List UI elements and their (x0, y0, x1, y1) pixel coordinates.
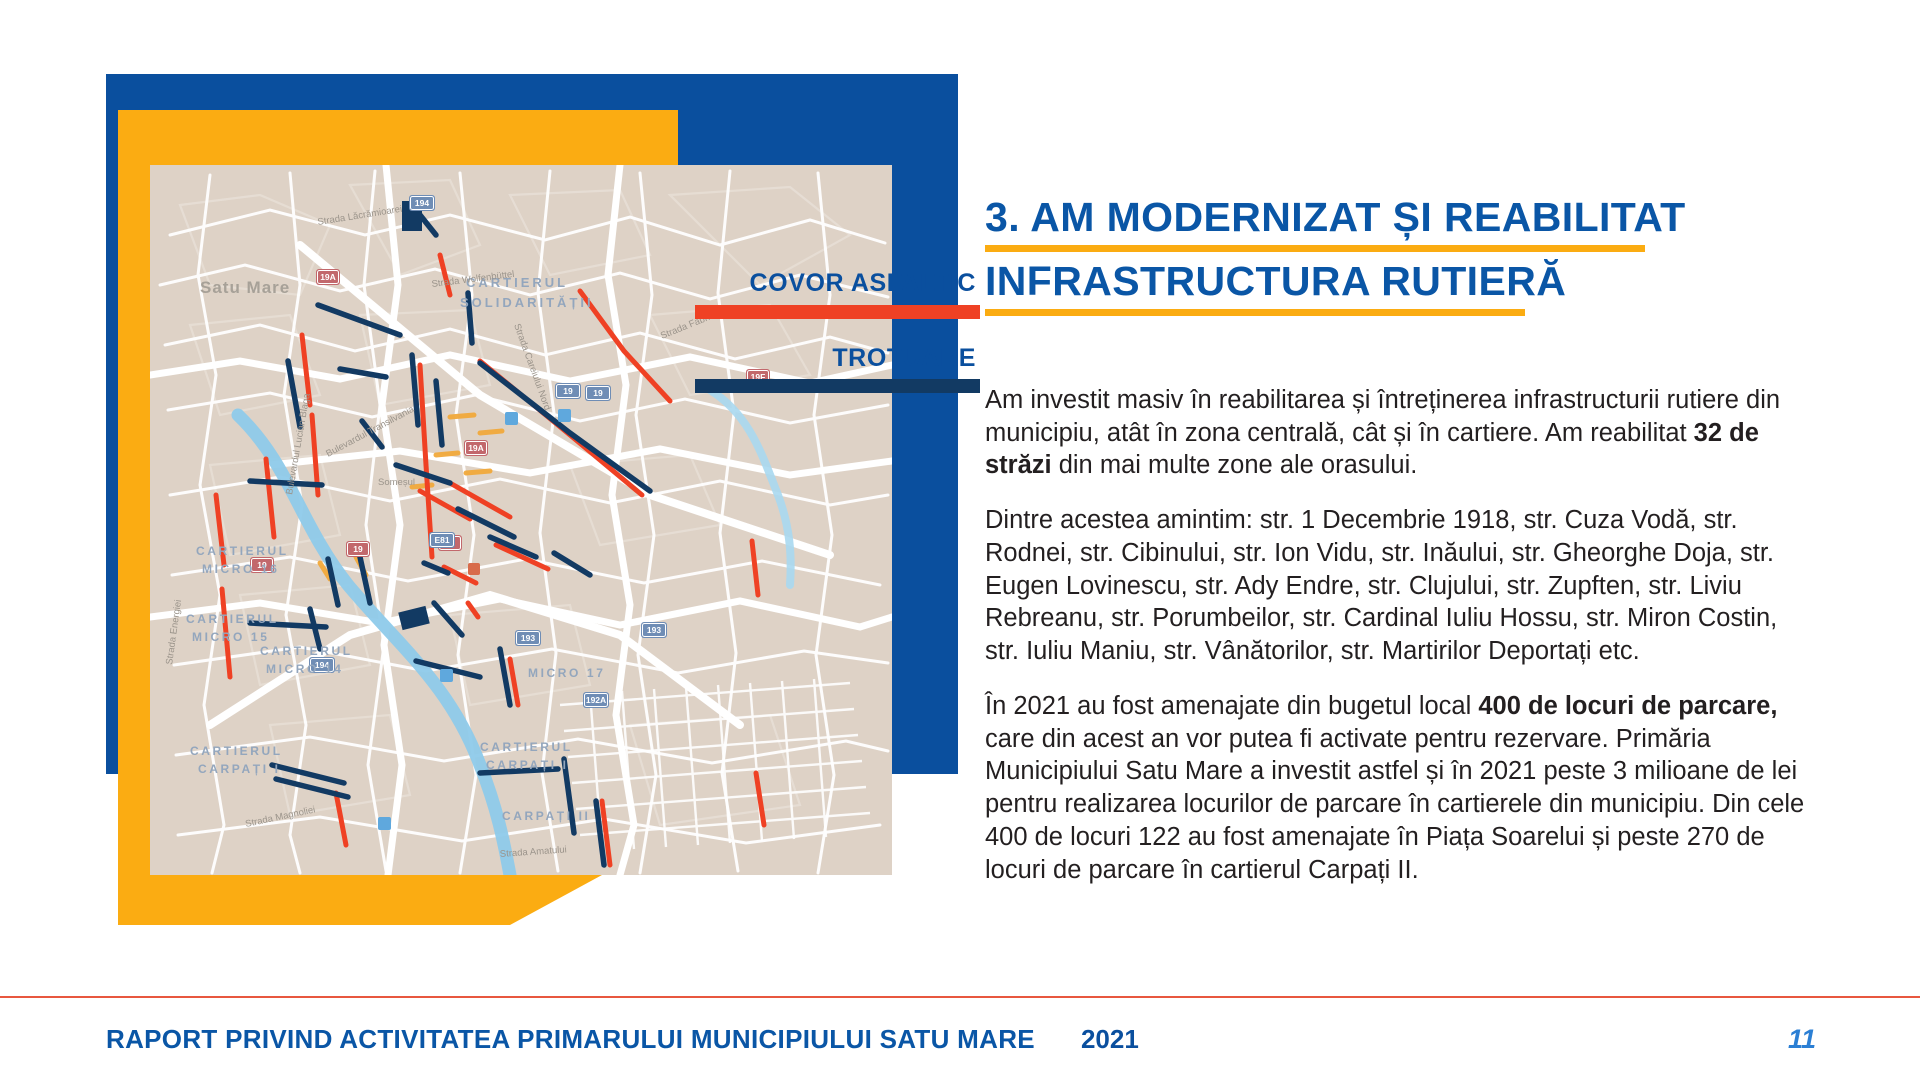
svg-text:CARPAȚI II: CARPAȚI II (502, 809, 590, 823)
paragraph-investment: Am investit masiv în reabilitarea și înt… (985, 384, 1815, 482)
legend-swatch-sidewalk (695, 379, 980, 393)
legend-item-asphalt: COVOR ASFALTIC (660, 270, 980, 319)
svg-text:19: 19 (593, 388, 603, 398)
footer-year: 2021 (1081, 1024, 1139, 1055)
title-underline-2 (985, 309, 1525, 316)
title-line-1: 3. AM MODERNIZAT ȘI REABILITAT (985, 195, 1815, 241)
paragraph-street-list: Dintre acestea amintim: str. 1 Decembrie… (985, 504, 1815, 668)
p1-pre: Am investit masiv în reabilitarea și înt… (985, 386, 1780, 447)
footer: RAPORT PRIVIND ACTIVITATEA PRIMARULUI MU… (0, 998, 1920, 1080)
p3-pre: În 2021 au fost amenajate din bugetul lo… (985, 692, 1478, 720)
p1-post: din mai multe zone ale orasului. (1052, 451, 1418, 479)
title-underline-1 (985, 245, 1645, 252)
title-line-2: INFRASTRUCTURA RUTIERĂ (985, 259, 1815, 305)
legend-swatch-asphalt (695, 305, 980, 319)
svg-text:19A: 19A (468, 443, 484, 453)
svg-text:MICRO 14: MICRO 14 (266, 662, 343, 676)
body-copy: Am investit masiv în reabilitarea și înt… (985, 384, 1815, 887)
svg-text:193: 193 (521, 633, 535, 643)
paragraph-parking: În 2021 au fost amenajate din bugetul lo… (985, 690, 1815, 887)
page-title: 3. AM MODERNIZAT ȘI REABILITAT INFRASTRU… (985, 195, 1815, 316)
legend-label-asphalt: COVOR ASFALTIC (660, 270, 980, 298)
svg-text:CARTIERUL: CARTIERUL (196, 544, 289, 558)
svg-text:19A: 19A (320, 272, 336, 282)
map-composition: 194 19A 19F 19 19 19A 19 19 19 E81 194 1… (0, 0, 980, 960)
svg-text:194: 194 (415, 198, 429, 208)
svg-text:19: 19 (353, 544, 363, 554)
svg-text:19: 19 (563, 386, 573, 396)
svg-text:193: 193 (647, 625, 661, 635)
svg-text:CARTIERUL: CARTIERUL (260, 644, 353, 658)
legend-item-sidewalk: TROTUARE (660, 345, 980, 394)
svg-text:MICRO 15: MICRO 15 (192, 630, 269, 644)
svg-text:CARTIERUL: CARTIERUL (186, 612, 279, 626)
legend-label-sidewalk: TROTUARE (660, 345, 980, 373)
p3-highlight: 400 de locuri de parcare, (1478, 692, 1777, 720)
content-column: 3. AM MODERNIZAT ȘI REABILITAT INFRASTRU… (985, 195, 1815, 887)
svg-text:CARPAȚI I: CARPAȚI I (198, 762, 281, 776)
page-number: 11 (1788, 1024, 1816, 1055)
map-legend: COVOR ASFALTIC TROTUARE (660, 270, 980, 419)
svg-text:MICRO 17: MICRO 17 (528, 666, 605, 680)
svg-text:SOLIDARITĂȚII: SOLIDARITĂȚII (460, 295, 594, 310)
svg-text:CARTIERUL: CARTIERUL (190, 744, 283, 758)
svg-text:MICRO 16: MICRO 16 (202, 562, 279, 576)
map-city-label: Satu Mare (200, 278, 290, 297)
svg-text:CARPAȚI I: CARPAȚI I (486, 758, 569, 772)
p3-post: care din acest an vor putea fi activate … (985, 725, 1804, 884)
svg-text:CARTIERUL: CARTIERUL (480, 740, 573, 754)
svg-text:Someșul: Someșul (378, 477, 415, 488)
svg-text:192A: 192A (586, 695, 606, 705)
svg-text:E81: E81 (434, 535, 449, 545)
footer-title: RAPORT PRIVIND ACTIVITATEA PRIMARULUI MU… (106, 1024, 1035, 1055)
